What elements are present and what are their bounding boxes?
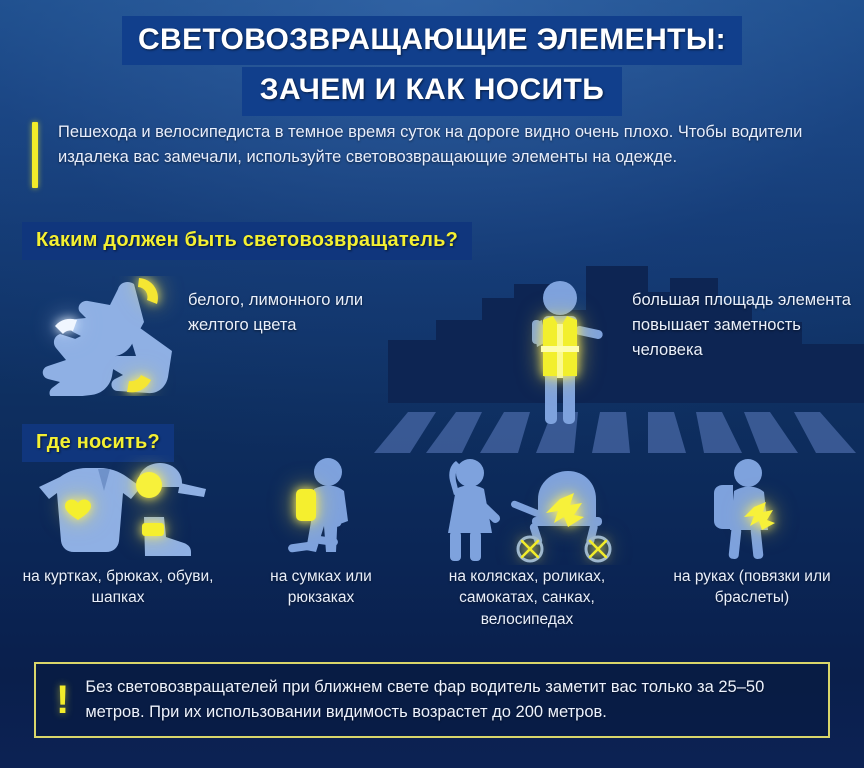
section-heading-requirements: Каким должен быть световозвращатель?: [22, 222, 472, 260]
title-line-2: ЗАЧЕМ И КАК НОСИТЬ: [242, 67, 622, 116]
requirement-color-text: белого, лимонного или желтого цвета: [188, 288, 403, 338]
where-column-wheels: на колясках, роликах, самокатах, санках,…: [412, 455, 642, 630]
where-column-bags: на сумках или рюкзаках: [236, 455, 406, 609]
crosswalk-stripes-icon: [370, 398, 864, 453]
person-in-reflective-vest-icon: [505, 276, 615, 426]
intro-text: Пешехода и велосипедиста в темное время …: [58, 120, 832, 188]
requirement-area-text: большая площадь элемента повышает заметн…: [632, 288, 857, 362]
intro-block: Пешехода и велосипедиста в темное время …: [32, 120, 832, 188]
yellow-accent-bar-icon: [32, 122, 38, 188]
person-with-bag-reflector-icon: [648, 455, 856, 560]
page-title: СВЕТОВОЗВРАЩАЮЩИЕ ЭЛЕМЕНТЫ: ЗАЧЕМ И КАК …: [0, 16, 864, 116]
section-where-to-wear-body: на куртках, брюках, обуви, шапках: [0, 455, 864, 650]
infographic-page: СВЕТОВОЗВРАЩАЮЩИЕ ЭЛЕМЕНТЫ: ЗАЧЕМ И КАК …: [0, 0, 864, 768]
jacket-cap-boot-icon: [8, 455, 228, 560]
title-line-1: СВЕТОВОЗВРАЩАЮЩИЕ ЭЛЕМЕНТЫ:: [122, 16, 742, 65]
warning-box: ! Без световозвращателей при ближнем све…: [34, 662, 830, 738]
where-column-hands: на руках (повязки или браслеты): [648, 455, 856, 609]
woman-with-stroller-icon: [412, 455, 642, 565]
warning-text: Без световозвращателей при ближнем свете…: [85, 675, 808, 725]
where-caption-bags: на сумках или рюкзаках: [236, 566, 406, 609]
three-gloves-with-reflective-bands-icon: [22, 276, 187, 396]
exclamation-mark-icon: !: [56, 682, 69, 718]
where-caption-clothing: на куртках, брюках, обуви, шапках: [8, 566, 228, 609]
where-caption-hands: на руках (повязки или браслеты): [648, 566, 856, 609]
walking-person-backpack-icon: [236, 455, 406, 560]
where-column-clothing: на куртках, брюках, обуви, шапках: [8, 455, 228, 609]
where-caption-wheels: на колясках, роликах, самокатах, санках,…: [412, 566, 642, 630]
